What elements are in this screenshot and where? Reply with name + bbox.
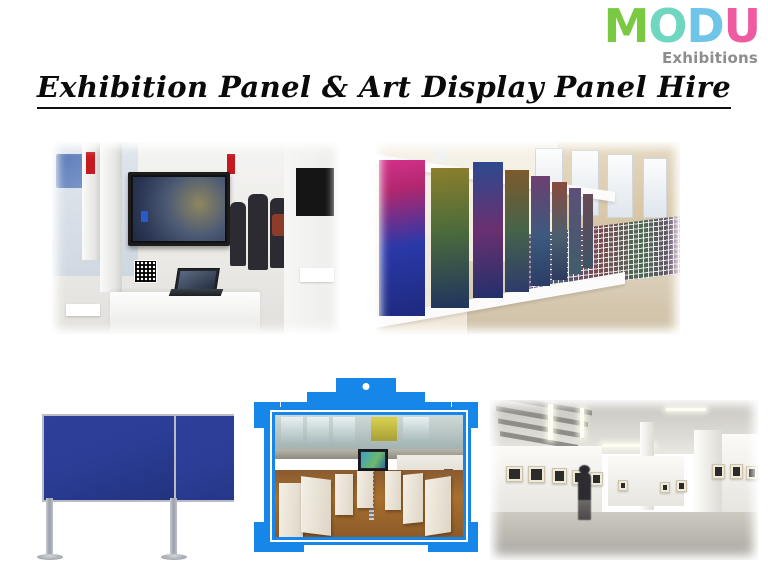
display-panel-4 xyxy=(357,471,373,508)
leaflet-right xyxy=(300,268,334,282)
photo-exhibition-stand xyxy=(52,142,340,334)
visitor-1 xyxy=(230,202,246,266)
wall-mounted-tv xyxy=(128,172,230,246)
stand-pillar-mid xyxy=(100,142,122,292)
tv-blue-marker xyxy=(141,211,148,222)
frame-foot-right xyxy=(428,544,478,552)
ceiling-light-strip-4 xyxy=(666,408,706,411)
gallery-artwork-2 xyxy=(528,466,545,483)
blue-panel-left xyxy=(42,414,176,502)
panel-pole-left xyxy=(46,498,53,556)
artwork-label-1 xyxy=(433,146,447,162)
gallery-artwork-9 xyxy=(712,464,725,479)
photo-blue-display-panels xyxy=(22,404,234,566)
brochure-stack xyxy=(66,304,100,316)
display-panel-6 xyxy=(403,472,423,523)
artwork-8 xyxy=(583,194,593,268)
logo-letter-d: D xyxy=(686,2,723,50)
hall-upper-level xyxy=(275,415,463,452)
hall-monitor xyxy=(358,449,388,471)
logo-tagline: Exhibitions xyxy=(570,50,760,66)
laptop-screen xyxy=(178,271,217,289)
atrium-window-3 xyxy=(607,154,633,218)
gallery-artwork-8 xyxy=(676,480,687,492)
artwork-4 xyxy=(505,170,529,292)
artwork-1 xyxy=(379,160,425,316)
visitor-2 xyxy=(248,194,268,270)
artwork-2 xyxy=(431,168,469,308)
display-panel-3 xyxy=(335,474,353,515)
atrium-window-4 xyxy=(643,158,667,218)
ceiling-light-strip-1 xyxy=(548,404,553,440)
page-title-text: Exhibition Panel & Art Display Panel Hir… xyxy=(37,70,731,109)
frame-hang-hole xyxy=(363,383,370,390)
photo-white-gallery xyxy=(490,400,758,560)
gallery-visitor xyxy=(578,472,591,520)
frame-foot-left xyxy=(254,544,304,552)
pole-base-centre xyxy=(161,554,187,560)
hall-window-5 xyxy=(403,417,429,441)
stand-right-screen xyxy=(296,168,334,216)
panel-hall-photo xyxy=(272,412,466,540)
stand-counter xyxy=(110,292,260,332)
panel-pole-centre xyxy=(170,498,177,556)
hall-monitor-screen xyxy=(361,452,385,468)
display-panel-7 xyxy=(425,476,451,536)
gallery-artwork-5 xyxy=(590,472,603,486)
artwork-5 xyxy=(531,176,550,286)
gallery-artwork-11 xyxy=(746,466,758,480)
hall-window-2 xyxy=(307,417,329,443)
logo-letter-u: U xyxy=(724,2,760,50)
artwork-6 xyxy=(552,182,567,280)
ceiling-light-strip-2 xyxy=(580,408,584,438)
artwork-7 xyxy=(569,188,581,274)
stand-red-tag-a xyxy=(86,152,95,174)
tv-screen-image xyxy=(133,177,225,241)
hall-window-4 xyxy=(371,417,397,441)
artwork-3 xyxy=(473,162,503,298)
gallery-artwork-3 xyxy=(552,468,567,484)
laptop-on-counter xyxy=(170,268,222,296)
display-panel-1 xyxy=(279,483,303,537)
logo-wordmark: MODU xyxy=(570,2,760,50)
pole-base-left xyxy=(37,554,63,560)
modu-logo: MODU Exhibitions xyxy=(570,2,760,76)
stand-red-tag-b xyxy=(227,154,235,174)
gallery-polished-floor xyxy=(490,512,758,560)
logo-letter-m: M xyxy=(604,2,649,50)
display-panel-5 xyxy=(385,471,401,510)
blue-panel-right xyxy=(174,414,234,502)
slide-canvas: MODU Exhibitions Exhibition Panel & Art … xyxy=(0,0,768,576)
hall-window-1 xyxy=(281,417,303,443)
photo-panel-hall-framed xyxy=(254,378,478,566)
hall-window-3 xyxy=(333,417,355,443)
gallery-artwork-7 xyxy=(660,482,670,493)
page-title: Exhibition Panel & Art Display Panel Hir… xyxy=(0,70,768,104)
gallery-artwork-10 xyxy=(730,464,743,479)
gallery-artwork-6 xyxy=(618,480,628,491)
qr-code-icon xyxy=(134,260,157,283)
photo-curved-art-wall xyxy=(375,142,680,334)
gallery-artwork-1 xyxy=(506,466,523,482)
laptop-keyboard xyxy=(169,289,224,296)
display-panel-2 xyxy=(301,477,331,537)
logo-letter-o: O xyxy=(648,2,686,50)
